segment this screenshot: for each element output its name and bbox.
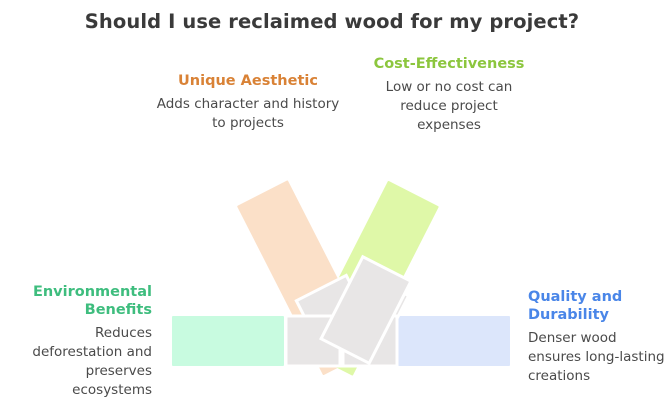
quadrant-heading: Cost-Effectiveness bbox=[368, 55, 530, 73]
quadrant-description: Reduces deforestation and preserves ecos… bbox=[2, 324, 152, 400]
quadrant-heading: Quality and Durability bbox=[528, 288, 664, 324]
quadrant-environmental-benefits: Environmental Benefits Reduces deforesta… bbox=[2, 283, 152, 400]
quadrant-unique-aesthetic: Unique Aesthetic Adds character and hist… bbox=[148, 72, 348, 133]
quadrant-description: Adds character and history to projects bbox=[148, 95, 348, 133]
quadrant-cost-effectiveness: Cost-Effectiveness Low or no cost can re… bbox=[368, 55, 530, 135]
quadrant-heading: Unique Aesthetic bbox=[148, 72, 348, 90]
quadrant-heading: Environmental Benefits bbox=[2, 283, 152, 319]
quadrant-description: Low or no cost can reduce project expens… bbox=[368, 78, 530, 135]
quadrant-quality-durability: Quality and Durability Denser wood ensur… bbox=[528, 288, 664, 386]
quadrant-description: Denser wood ensures long-lasting creatio… bbox=[528, 329, 664, 386]
bar-environmental-benefits bbox=[172, 316, 284, 366]
bar-quality-durability bbox=[398, 316, 510, 366]
